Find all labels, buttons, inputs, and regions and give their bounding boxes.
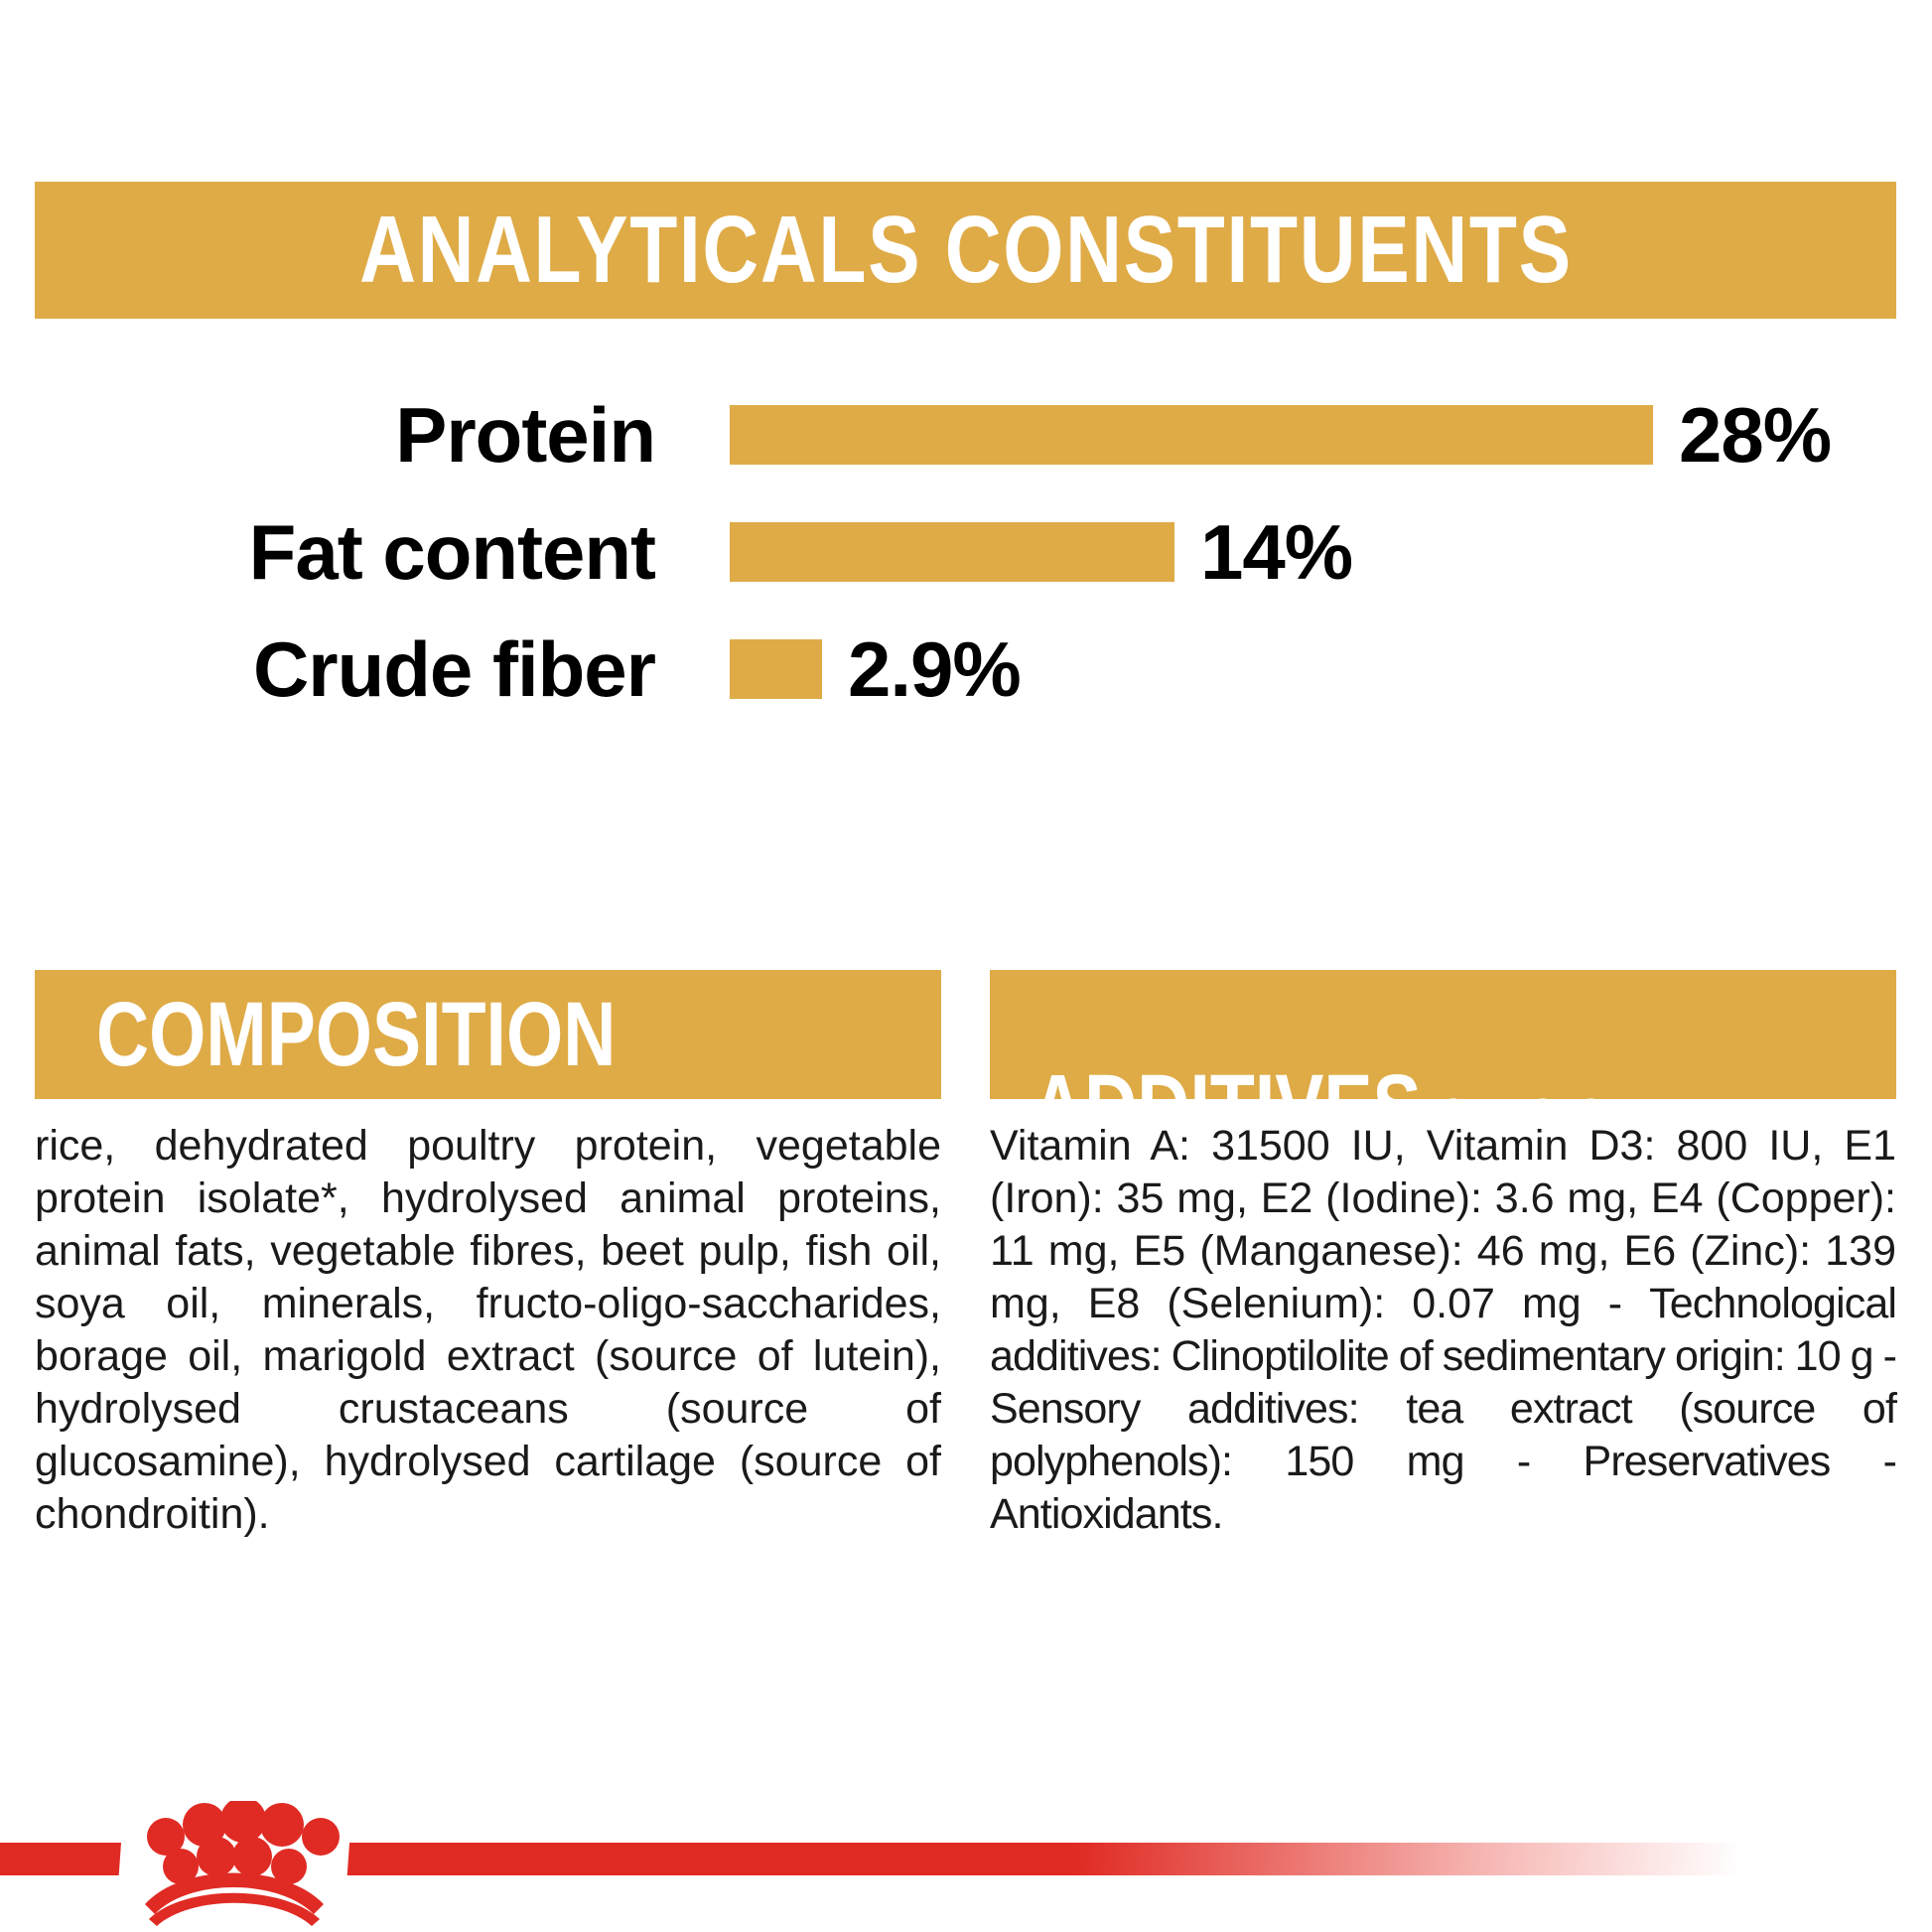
additives-per-kg-label: (per kg)	[1442, 1092, 1601, 1099]
bar-track-protein: 28%	[730, 405, 1831, 465]
bar-value-fat-content: 14%	[1200, 522, 1352, 582]
chart-row: Protein 28%	[0, 392, 1932, 478]
bar-label-fat-content: Fat content	[60, 509, 655, 595]
product-fact-panel: ANALYTICALS CONSTITUENTS Protein 28% Fat…	[0, 0, 1932, 1932]
footer-rule-right	[347, 1843, 1932, 1875]
composition-banner: COMPOSITION	[35, 970, 941, 1099]
bar-track-fat-content: 14%	[730, 522, 1352, 582]
footer-rule-left	[0, 1843, 121, 1875]
bar-fill-fat-content	[730, 522, 1174, 582]
bar-fill-crude-fiber	[730, 639, 822, 699]
bar-fill-protein	[730, 405, 1653, 465]
composition-text: rice, dehydrated poultry protein, vegeta…	[35, 1120, 941, 1541]
bar-label-crude-fiber: Crude fiber	[60, 626, 655, 712]
analyticals-constituents-title: ANALYTICALS CONSTITUENTS	[359, 203, 1573, 298]
additives-title: ADDITIVES	[1032, 1061, 1422, 1099]
chart-row: Crude fiber 2.9%	[0, 626, 1932, 712]
analyticals-bar-chart: Protein 28% Fat content 14% Crude fiber …	[0, 392, 1932, 690]
additives-banner: ADDITIVES (per kg)	[990, 970, 1896, 1099]
footer	[0, 1807, 1932, 1932]
bar-track-crude-fiber: 2.9%	[730, 639, 1021, 699]
chart-row: Fat content 14%	[0, 509, 1932, 595]
royal-canin-crown-icon	[127, 1801, 355, 1926]
additives-text: Vitamin A: 31500 IU, Vitamin D3: 800 IU,…	[990, 1120, 1896, 1541]
bar-value-protein: 28%	[1679, 405, 1831, 465]
bar-label-protein: Protein	[60, 392, 655, 478]
additives-title-group: ADDITIVES (per kg)	[1032, 970, 1602, 1061]
bar-value-crude-fiber: 2.9%	[848, 639, 1021, 699]
analyticals-constituents-banner: ANALYTICALS CONSTITUENTS	[35, 182, 1896, 319]
composition-title: COMPOSITION	[96, 989, 616, 1080]
